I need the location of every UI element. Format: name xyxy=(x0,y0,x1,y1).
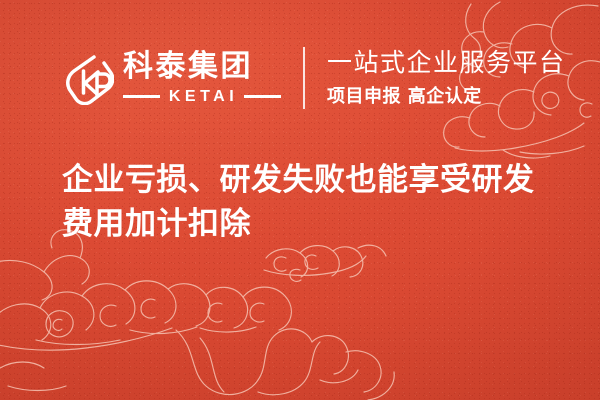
brand-name-cn: 科泰集团 xyxy=(123,52,281,82)
logo-dash-left xyxy=(123,95,160,98)
tagline-main: 一站式企业服务平台 xyxy=(327,50,566,75)
promo-banner: 科泰集团 KETAI 一站式企业服务平台 项目申报 高企认定 企业亏损、研发失败… xyxy=(0,0,600,400)
brand-name-en-row: KETAI xyxy=(123,89,281,105)
brand-wordmark: 科泰集团 KETAI xyxy=(123,52,281,105)
tagline-block: 一站式企业服务平台 项目申报 高企认定 xyxy=(327,50,566,106)
banner-header: 科泰集团 KETAI 一站式企业服务平台 项目申报 高企认定 xyxy=(0,38,600,118)
brand-name-en: KETAI xyxy=(160,89,244,105)
logo-dash-right xyxy=(244,95,281,98)
ketai-diamond-kp-monogram-icon xyxy=(62,51,114,105)
header-divider xyxy=(303,47,305,109)
tagline-sub: 项目申报 高企认定 xyxy=(327,88,566,106)
brand-logo[interactable]: 科泰集团 KETAI xyxy=(62,51,281,105)
headline-text: 企业亏损、研发失败也能享受研发费用加计扣除 xyxy=(62,158,562,246)
